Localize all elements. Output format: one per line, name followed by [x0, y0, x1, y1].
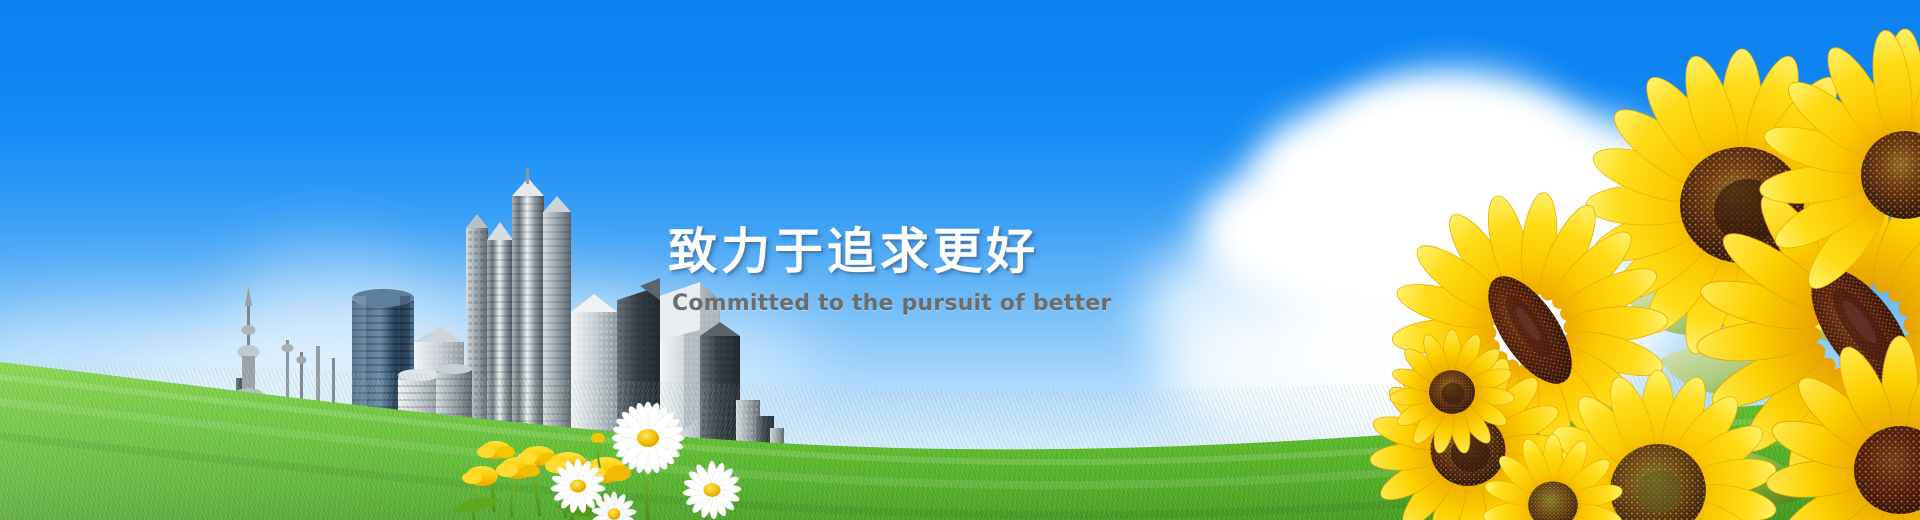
hero-banner: 致力于追求更好 Committed to the pursuit of bett… [0, 0, 1920, 520]
page-title: 致力于追求更好 [668, 226, 1228, 279]
headline-block: 致力于追求更好 Committed to the pursuit of bett… [668, 226, 1228, 316]
page-subtitle: Committed to the pursuit of better [672, 291, 1228, 316]
